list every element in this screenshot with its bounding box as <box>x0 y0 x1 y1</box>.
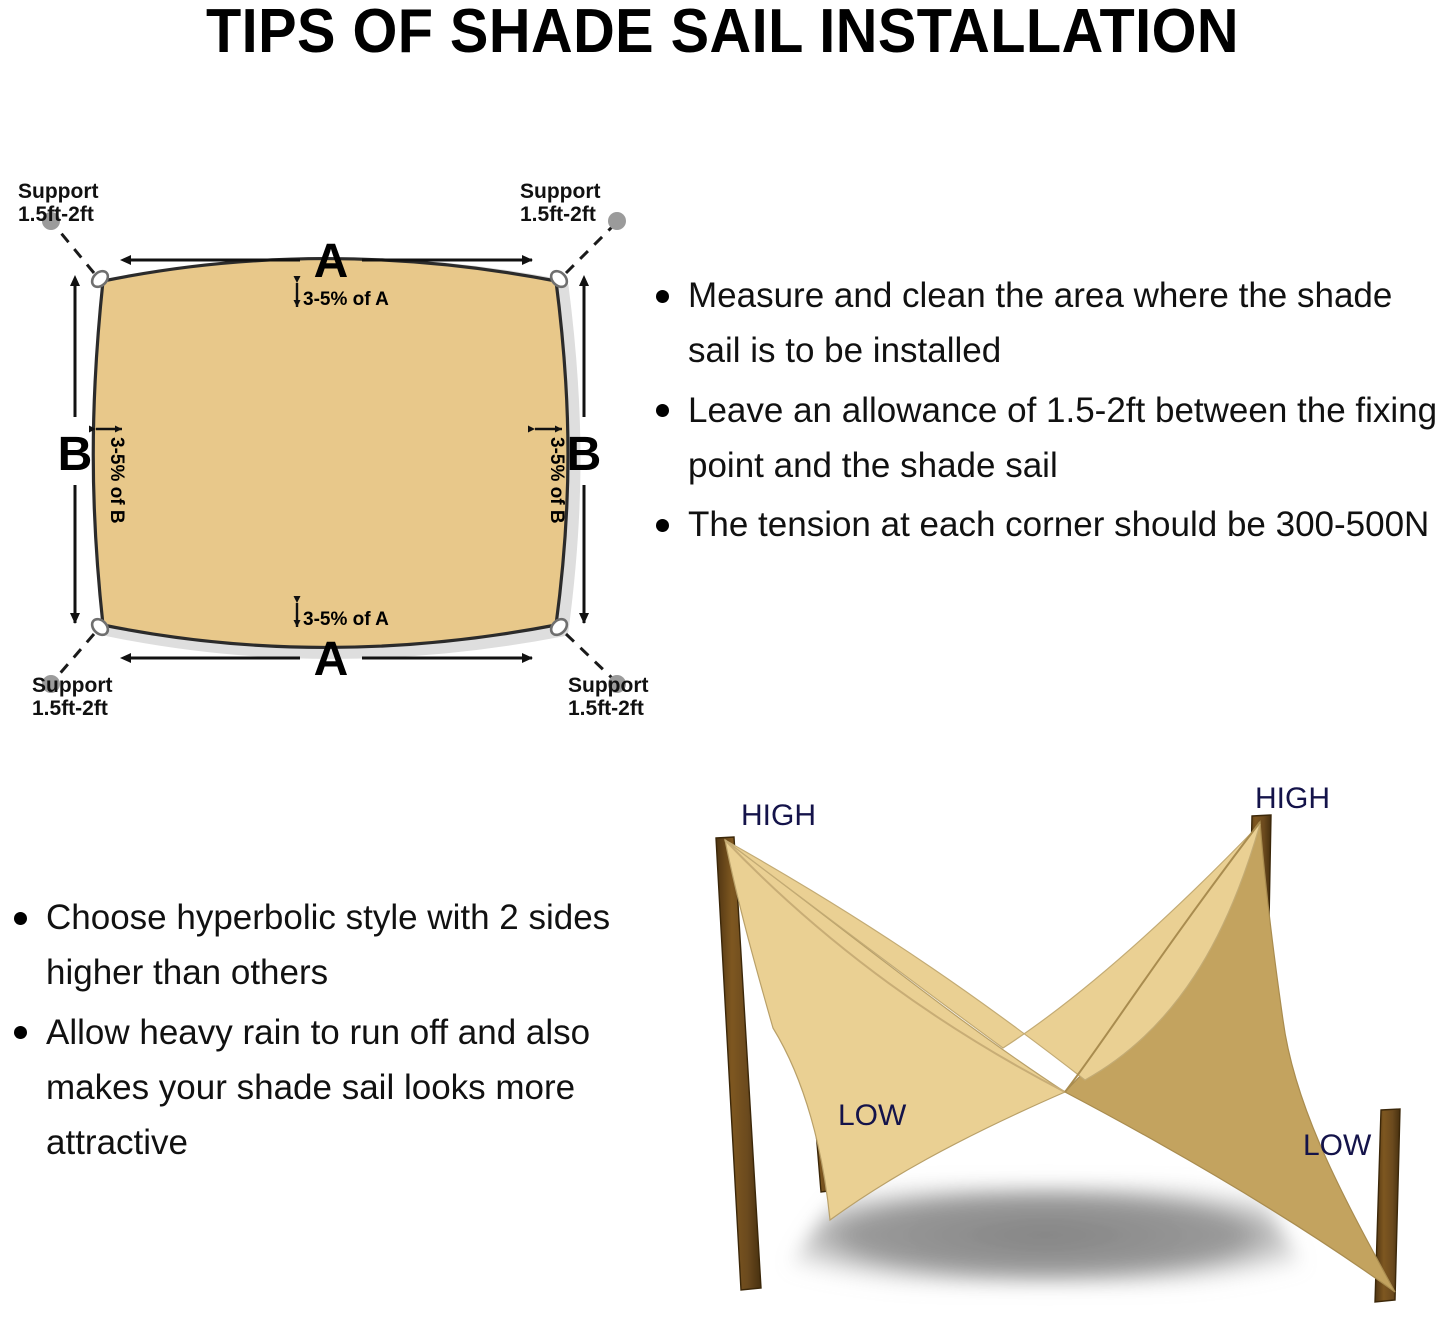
hyperbolic-sail-diagram: HIGH HIGH LOW LOW <box>655 780 1445 1319</box>
support-line-top-right <box>566 227 612 273</box>
tip-item: Leave an allowance of 1.5-2ft between th… <box>648 383 1445 494</box>
tip-item: Measure and clean the area where the sha… <box>648 268 1445 379</box>
dimension-letter-b-right: B <box>567 428 602 481</box>
tip-text: Allow heavy rain to run off and also mak… <box>46 1005 626 1171</box>
tip-item: Allow heavy rain to run off and also mak… <box>6 1005 626 1171</box>
tip-text: The tension at each corner should be 300… <box>688 497 1445 552</box>
support-label-top-left-line2: 1.5ft-2ft <box>18 203 94 226</box>
curvature-label-bottom: 3-5% of A <box>303 609 389 630</box>
bullet-dot-icon <box>14 1026 27 1039</box>
bullet-dot-icon <box>656 519 669 532</box>
support-label-bottom-left-line1: Support <box>32 674 112 697</box>
support-line-top-left <box>56 227 94 273</box>
installation-tips-bottom-list: Choose hyperbolic style with 2 sides hig… <box>6 890 626 1174</box>
label-low-right: LOW <box>1303 1129 1372 1162</box>
support-label-top-right-line2: 1.5ft-2ft <box>520 203 596 226</box>
tip-item: The tension at each corner should be 300… <box>648 497 1445 552</box>
support-line-bottom-right <box>566 634 612 678</box>
support-label-bottom-left-line2: 1.5ft-2ft <box>32 697 108 720</box>
curvature-label-top: 3-5% of A <box>303 289 389 310</box>
bullet-dot-icon <box>14 912 27 925</box>
support-label-top-right-line1: Support <box>520 180 600 203</box>
dimension-letter-a-bottom: A <box>314 633 349 686</box>
label-low-left: LOW <box>838 1099 907 1132</box>
label-high-right: HIGH <box>1255 782 1330 815</box>
rectangle-sail-diagram: Support 1.5ft-2ft Support 1.5ft-2ft Supp… <box>0 155 680 735</box>
label-high-left: HIGH <box>741 799 816 832</box>
support-label-top-left-line1: Support <box>18 180 98 203</box>
dimension-letter-a-top: A <box>314 235 349 288</box>
sail-body <box>93 259 568 648</box>
support-line-bottom-left <box>56 634 94 678</box>
installation-tips-top-list: Measure and clean the area where the sha… <box>648 268 1445 556</box>
support-dot-top-right <box>608 212 626 230</box>
tip-item: Choose hyperbolic style with 2 sides hig… <box>6 890 626 1001</box>
tip-text: Measure and clean the area where the sha… <box>688 268 1445 379</box>
tip-text: Choose hyperbolic style with 2 sides hig… <box>46 890 626 1001</box>
tip-text: Leave an allowance of 1.5-2ft between th… <box>688 383 1445 494</box>
support-label-bottom-right-line1: Support <box>568 674 648 697</box>
page-title: TIPS OF SHADE SAIL INSTALLATION <box>51 0 1395 67</box>
infographic-page: TIPS OF SHADE SAIL INSTALLATION <box>0 0 1445 1319</box>
bullet-dot-icon <box>656 290 669 303</box>
dimension-letter-b-left: B <box>58 428 93 481</box>
curvature-label-left: 3-5% of B <box>106 437 127 524</box>
curvature-label-right: 3-5% of B <box>546 437 567 524</box>
bullet-dot-icon <box>656 404 669 417</box>
support-label-bottom-right-line2: 1.5ft-2ft <box>568 697 644 720</box>
